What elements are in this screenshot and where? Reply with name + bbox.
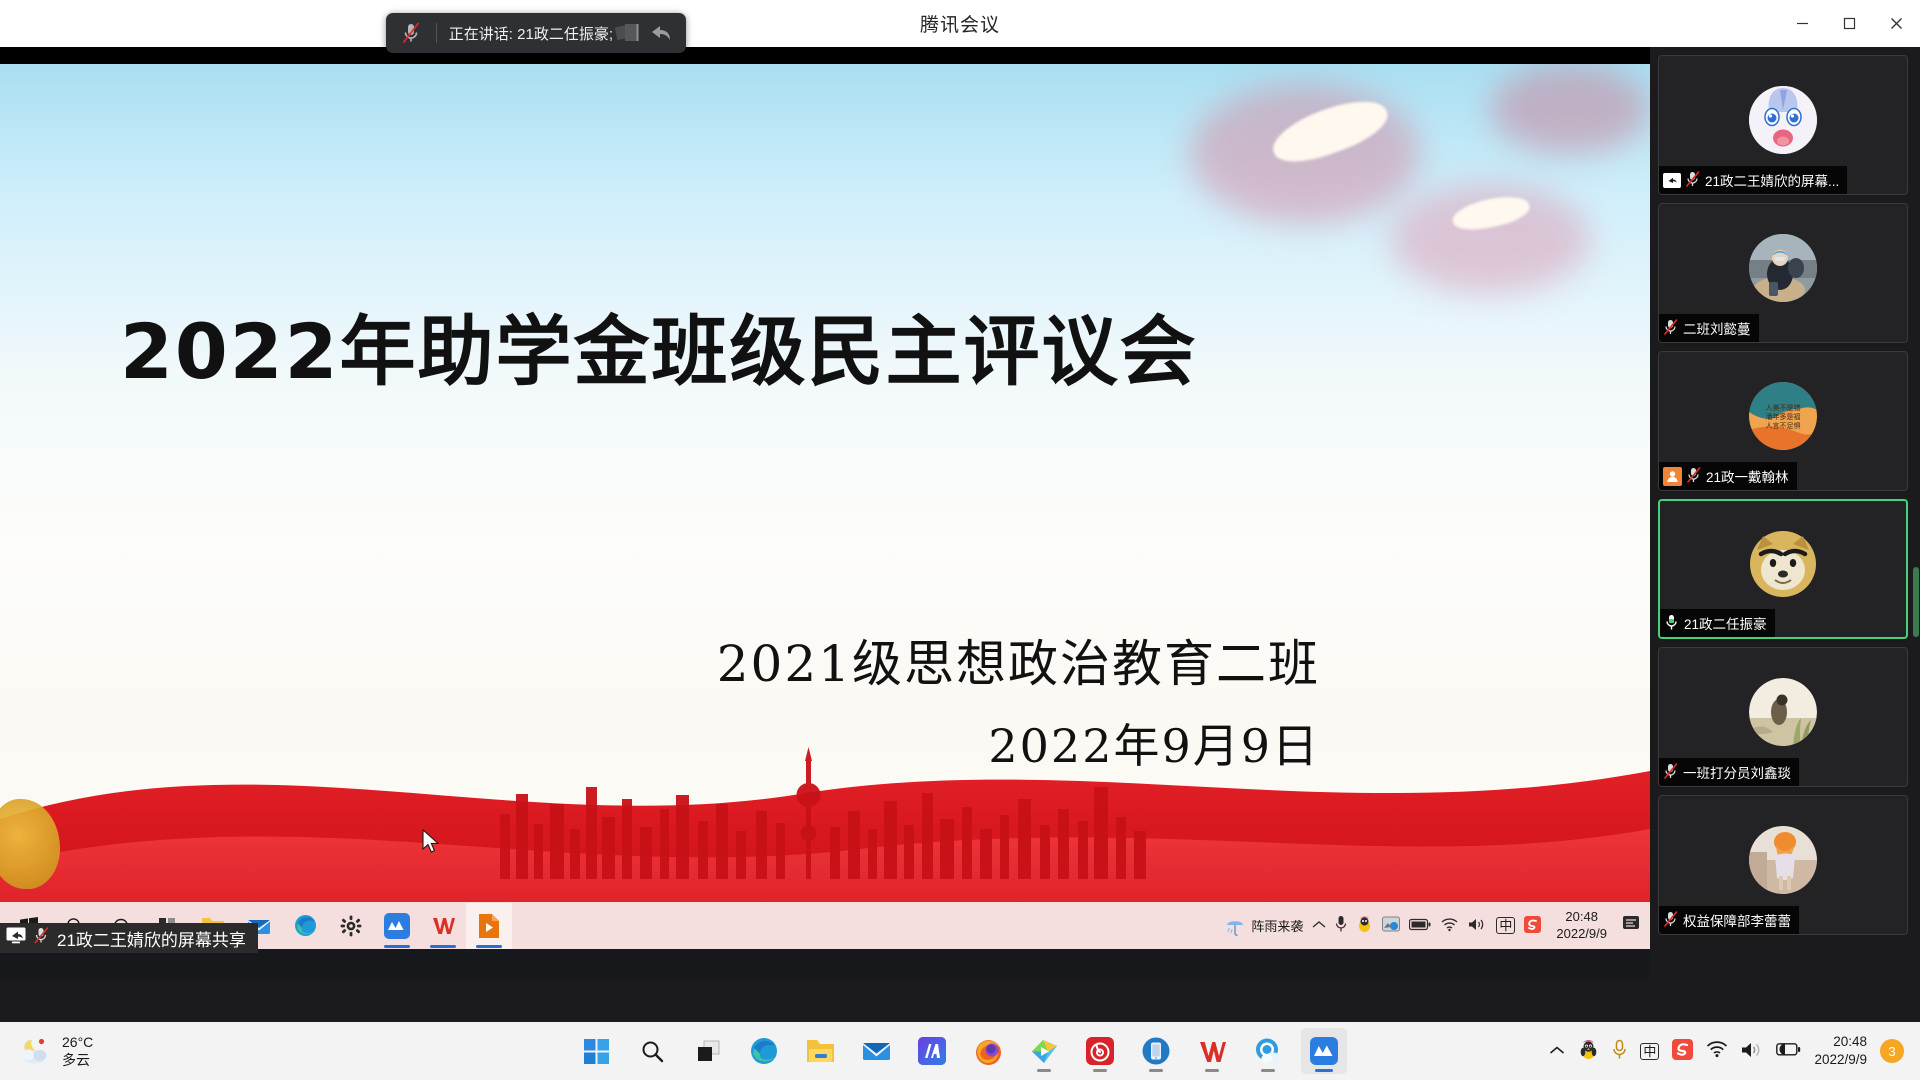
microphone-active-icon [1664,613,1680,634]
participant-name: 二班刘懿蔓 [1683,318,1751,338]
ma-app-icon[interactable] [909,1028,955,1074]
inner-clock[interactable]: 20:48 2022/9/9 [1550,909,1613,942]
qq-penguin-icon[interactable] [1356,916,1373,936]
taskbar-clock[interactable]: 20:48 2022/9/9 [1814,1033,1867,1068]
mic-muted-icon [1663,318,1679,339]
qq-penguin-icon[interactable] [1578,1039,1599,1063]
notification-icon[interactable] [1622,915,1642,936]
participant-tile[interactable]: 二班刘懿蔓 [1658,203,1908,343]
edge-browser-icon[interactable] [282,903,328,949]
mic-muted-icon[interactable] [386,13,436,53]
firefox-icon[interactable] [965,1028,1011,1074]
participant-name: 权益保障部李蕾蕾 [1683,910,1791,930]
inner-weather-text: 阵雨来袭 [1251,916,1303,935]
participant-nameplate: 二班刘懿蔓 [1659,314,1759,342]
wps-office-icon[interactable] [420,903,466,949]
participant-tile[interactable]: 一班打分员刘鑫琰 [1658,647,1908,787]
app-running-indicator [1093,1069,1107,1072]
floating-speaker-toolbar[interactable]: 正在讲话: 21政二任振豪; [386,13,686,53]
sogou-icon[interactable] [1524,916,1541,936]
mic-muted-icon [1663,910,1679,931]
microphone-icon[interactable] [1612,1039,1627,1063]
participant-tile[interactable]: 人美不是错 潘年多是福 人言不足惧 21政一戴翰林 [1658,351,1908,491]
weather-widget[interactable]: 26°C 多云 [0,1033,93,1069]
volume-icon[interactable] [1468,917,1487,935]
inner-weather-widget[interactable]: 阵雨来袭 [1224,915,1303,937]
volume-icon[interactable] [1741,1041,1763,1062]
screen-share-icon [6,927,26,949]
windows-start-icon[interactable] [573,1028,619,1074]
window-titlebar: 腾讯会议 [0,0,1920,47]
mail-icon[interactable] [853,1028,899,1074]
app-running-indicator [476,945,502,948]
avatar [1749,86,1817,154]
participant-tile-active-speaker[interactable]: 21政二任振豪 [1658,499,1908,639]
participant-name: 21政一戴翰林 [1706,466,1789,486]
sogou-input-icon[interactable] [1672,1039,1693,1063]
svg-text:人美不是错: 人美不是错 [1766,403,1801,412]
qq-browser-icon[interactable] [1245,1028,1291,1074]
participant-nameplate: 权益保障部李蕾蕾 [1659,906,1799,934]
svg-text:人言不足惧: 人言不足惧 [1766,421,1801,430]
participant-name: 21政二任振豪 [1684,613,1767,633]
windows-taskbar[interactable]: 26°C 多云 [0,1022,1920,1080]
battery-charging-icon[interactable] [1776,1042,1801,1060]
taskbar-app-icons [573,1028,1347,1074]
wps-presentation-icon[interactable] [466,903,512,949]
avatar: 人美不是错 潘年多是福 人言不足惧 [1749,382,1817,450]
participant-name: 21政二王婧欣的屏幕... [1705,170,1839,190]
weather-condition: 多云 [62,1051,93,1069]
svg-text:潘年多是福: 潘年多是福 [1766,412,1801,421]
inner-clock-time: 20:48 [1556,909,1607,925]
screen-share-icon [1663,173,1681,188]
tencent-meeting-window: 腾讯会议 [0,0,1920,1022]
ime-indicator[interactable]: 中 [1640,1043,1659,1060]
search-icon[interactable] [629,1028,675,1074]
participant-nameplate: 21政一戴翰林 [1659,462,1797,490]
wifi-icon[interactable] [1440,917,1459,935]
participant-tile[interactable]: 21政二王婧欣的屏幕... [1658,55,1908,195]
task-view-icon[interactable] [685,1028,731,1074]
host-badge-icon [1663,467,1682,486]
slide-title: 2022年助学金班级民主评议会 [120,314,1240,390]
ime-indicator[interactable]: 中 [1496,917,1515,934]
mic-muted-icon [33,926,50,950]
panel-scrollbar[interactable] [1913,567,1919,637]
mic-muted-icon [1686,466,1702,487]
window-title: 腾讯会议 [920,10,1000,37]
chevron-up-icon[interactable] [1549,1043,1565,1059]
blossom-decoration [1490,64,1650,154]
screen-root: 腾讯会议 [0,0,1920,1080]
avatar [1749,826,1817,894]
avatar [1749,234,1817,302]
edge-browser-icon[interactable] [741,1028,787,1074]
participant-name: 一班打分员刘鑫琰 [1683,762,1791,782]
notification-badge[interactable]: 3 [1880,1039,1904,1063]
maximize-button[interactable] [1826,0,1873,47]
app-running-indicator [1315,1069,1333,1072]
participant-nameplate: 21政二王婧欣的屏幕... [1659,166,1847,194]
weather-text: 26°C 多云 [62,1033,93,1069]
tencent-meeting-icon[interactable] [374,903,420,949]
photo-app-icon[interactable] [1382,916,1400,935]
battery-icon[interactable] [1409,918,1431,934]
chevron-up-icon[interactable] [1312,918,1326,933]
screen-share-indicator[interactable]: 21政二王婧欣的屏幕共享 [0,923,258,953]
wifi-icon[interactable] [1706,1041,1728,1061]
mic-muted-icon [1685,170,1701,191]
avatar [1749,678,1817,746]
app-running-indicator [430,945,456,948]
app-running-indicator [1037,1069,1051,1072]
toolbar-icons [613,16,686,50]
mouse-cursor [422,829,440,855]
phone-link-icon[interactable] [1133,1028,1179,1074]
moon-cloud-icon [18,1036,52,1066]
undo-arrow-icon[interactable] [646,16,676,50]
weather-temperature: 26°C [62,1033,93,1051]
presentation-slide: 2022年助学金班级民主评议会 2021级思想政治教育二班 2022年9月9日 [0,64,1650,979]
inner-clock-date: 2022/9/9 [1556,926,1607,942]
mic-muted-icon [1663,762,1679,783]
app-running-indicator [384,945,410,948]
shared-screen-stage[interactable]: 2022年助学金班级民主评议会 2021级思想政治教育二班 2022年9月9日 [0,47,1650,979]
close-button[interactable] [1873,0,1920,47]
slide-subtitle-class: 2021级思想政治教育二班 [300,624,1320,696]
app-running-indicator [1205,1069,1219,1072]
avatar [1749,530,1817,598]
participant-panel[interactable]: 21政二王婧欣的屏幕... [1650,47,1920,979]
rain-umbrella-icon [1224,915,1246,937]
system-tray: 中 20:48 2022/9/9 3 [1549,1033,1920,1068]
tencent-meeting-icon[interactable] [1301,1028,1347,1074]
window-controls [1779,0,1920,47]
app-running-indicator [1149,1069,1163,1072]
share-indicator-text: 21政二王婧欣的屏幕共享 [57,926,246,951]
minimize-button[interactable] [1779,0,1826,47]
app-running-indicator [1261,1069,1275,1072]
inner-taskbar-tray: 阵雨来袭 [1224,909,1650,942]
screen-share-icon[interactable] [613,16,643,50]
media-player-icon[interactable] [1021,1028,1067,1074]
clock-date: 2022/9/9 [1814,1051,1867,1069]
participant-nameplate: 一班打分员刘鑫琰 [1659,758,1799,786]
netease-music-icon[interactable] [1077,1028,1123,1074]
file-explorer-icon[interactable] [797,1028,843,1074]
microphone-icon[interactable] [1335,915,1347,936]
speaking-status-text: 正在讲话: 21政二任振豪; [437,23,613,44]
shared-screen-bottom-bar [0,949,1650,979]
participant-nameplate: 21政二任振豪 [1660,609,1775,637]
wps-office-icon[interactable] [1189,1028,1235,1074]
settings-gear-icon[interactable] [328,903,374,949]
participant-tile[interactable]: 权益保障部李蕾蕾 [1658,795,1908,935]
clock-time: 20:48 [1814,1033,1867,1051]
